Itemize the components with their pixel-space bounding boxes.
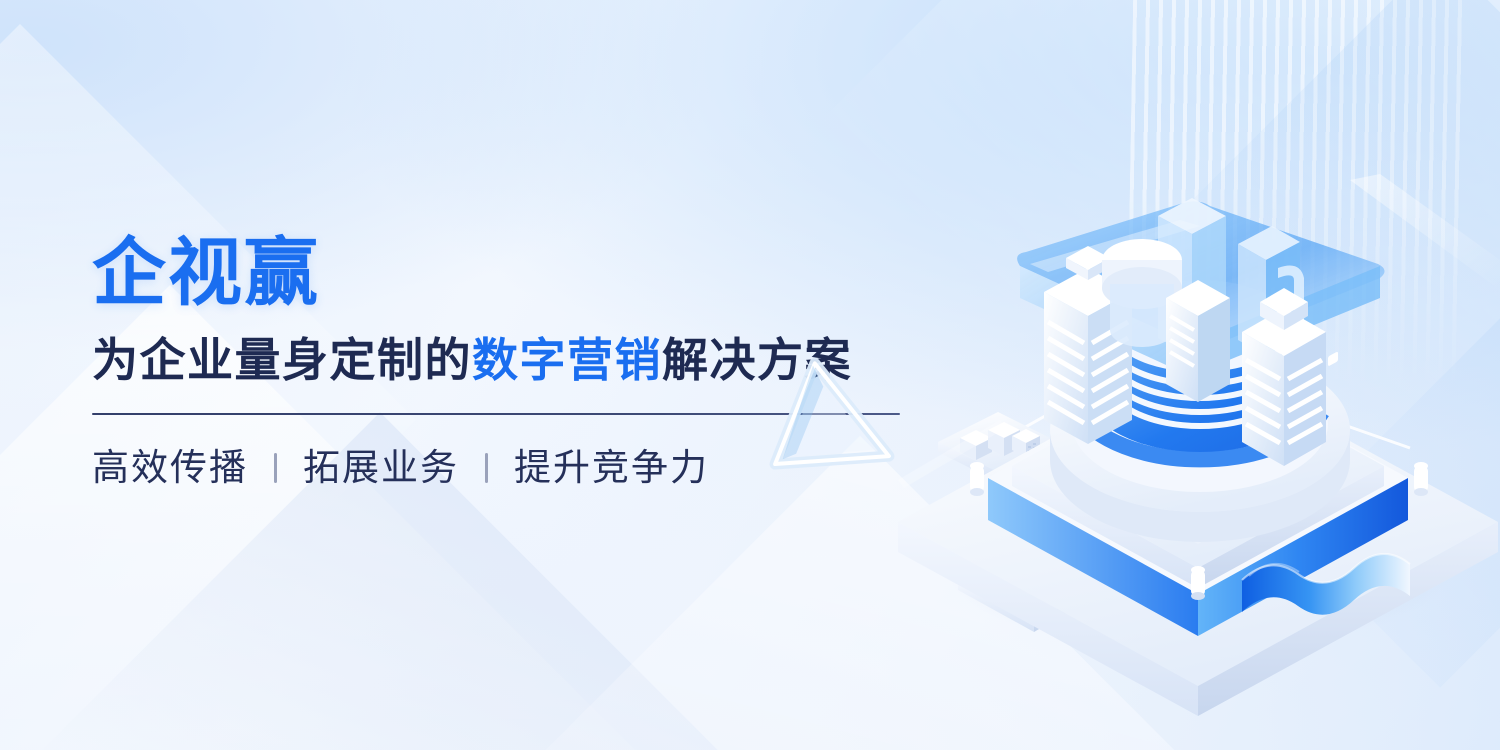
headline-highlight: 数字营销 xyxy=(472,334,662,386)
tagline-separator-icon xyxy=(274,453,277,483)
tagline-item-2: 拓展业务 xyxy=(303,449,459,486)
headline: 为企业量身定制的数字营销解决方案 xyxy=(92,337,922,383)
tagline-separator-icon xyxy=(485,453,488,483)
tagline-item-3: 提升竞争力 xyxy=(514,449,709,486)
hero-illustration xyxy=(880,180,1500,680)
divider-rule xyxy=(92,413,900,415)
headline-prefix: 为企业量身定制的 xyxy=(92,334,472,386)
hero-banner: 企视赢 为企业量身定制的数字营销解决方案 高效传播 拓展业务 提升竞争力 xyxy=(0,0,1500,750)
brand-logo-text: 企视赢 xyxy=(92,236,922,310)
tagline-item-1: 高效传播 xyxy=(92,449,248,486)
